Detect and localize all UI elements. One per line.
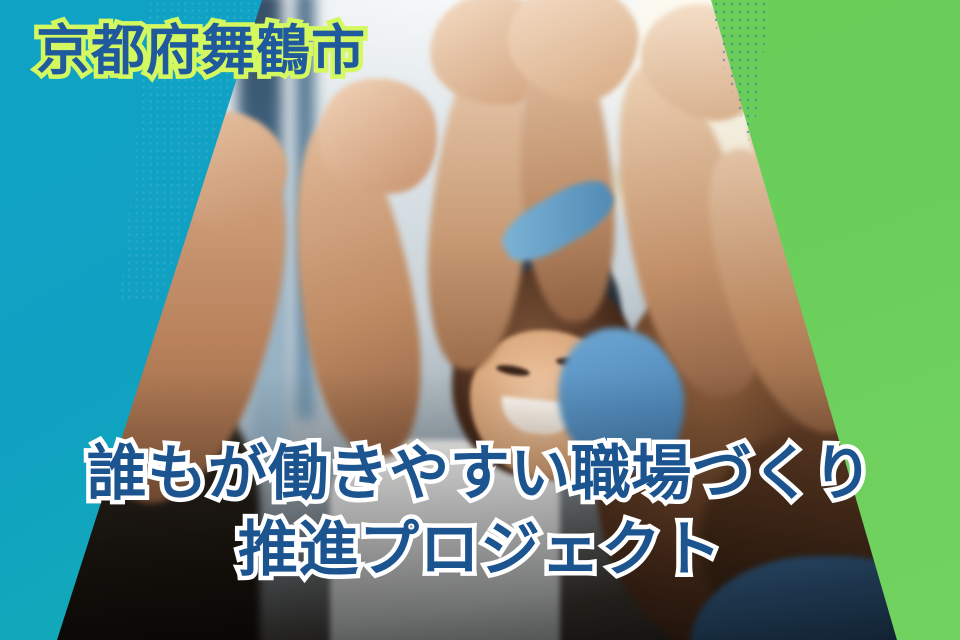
- headline-line-1: 誰もが働きやすい職場づくり: [0, 440, 960, 510]
- headline: 誰もが働きやすい職場づくり 推進プロジェクト: [0, 440, 960, 585]
- headline-line-2: 推進プロジェクト: [0, 516, 960, 586]
- promo-banner: 京都府舞鶴市 誰もが働きやすい職場づくり 推進プロジェクト: [0, 0, 960, 640]
- city-title: 京都府舞鶴市: [36, 22, 366, 80]
